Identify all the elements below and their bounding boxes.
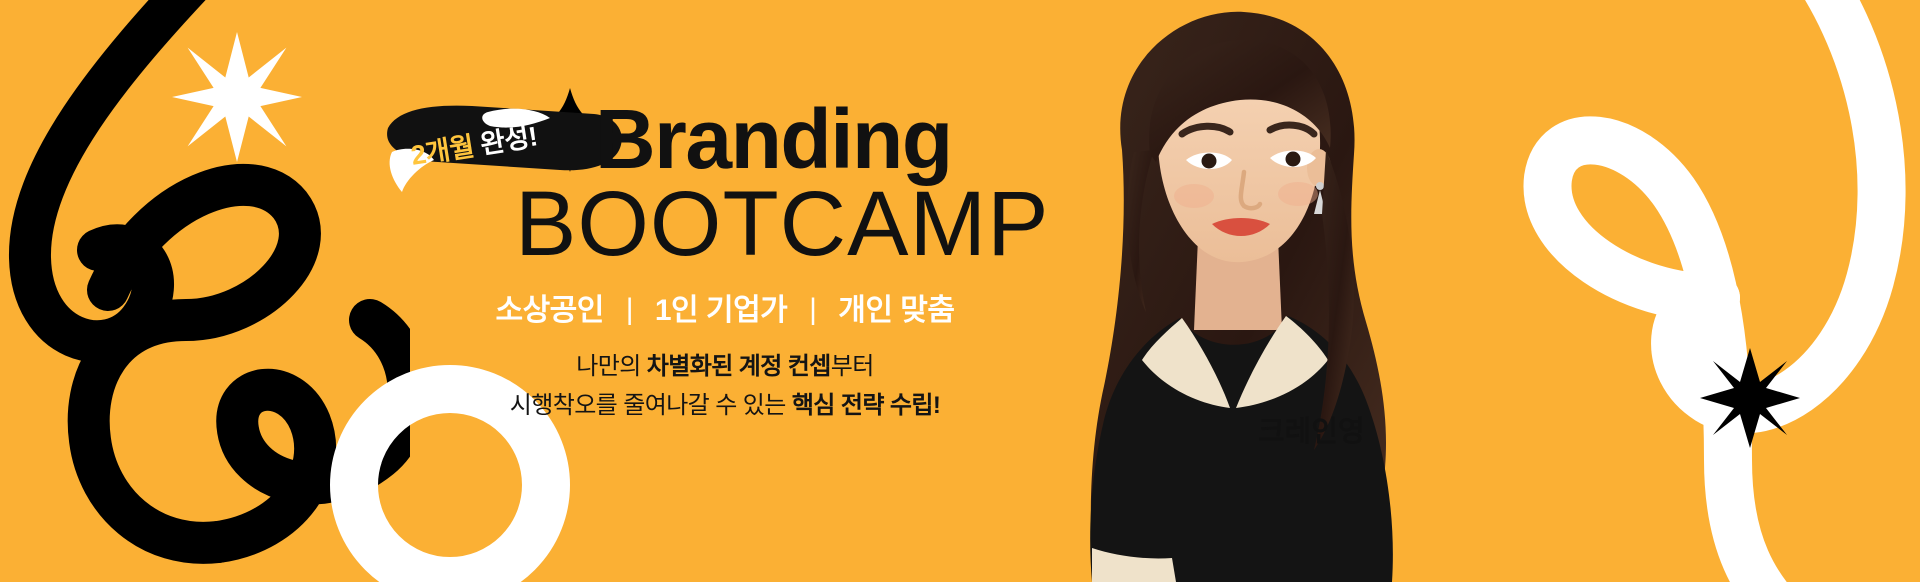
body-line1-plain-a: 나만의 xyxy=(576,353,647,380)
subtitle-item-2: 1인 기업가 xyxy=(655,294,787,327)
branding-bootcamp-banner: 2개월 완성! Branding BOOTCAMP 소상공인 | 1인 기업가 … xyxy=(0,0,1920,582)
body-line1-bold: 차별화된 계정 컨셉 xyxy=(647,353,831,380)
headline-bootcamp: BOOTCAMP xyxy=(515,178,1049,270)
subtitle-divider-1: | xyxy=(626,293,633,327)
body-copy: 나만의 차별화된 계정 컨셉부터 시행착오를 줄여나갈 수 있는 핵심 전략 수… xyxy=(380,348,1070,426)
subtitle-item-3: 개인 맞춤 xyxy=(838,294,954,327)
star-white-icon xyxy=(172,32,302,162)
subtitle-divider-2: | xyxy=(809,293,816,327)
model-photo xyxy=(1030,0,1450,582)
star-black-icon xyxy=(1700,348,1800,448)
swirl-right-icon xyxy=(1470,0,1920,582)
body-line1-plain-b: 부터 xyxy=(831,353,874,380)
headline-branding: Branding xyxy=(595,97,952,181)
subtitle-item-1: 소상공인 xyxy=(495,294,603,327)
subtitle-row: 소상공인 | 1인 기업가 | 개인 맞춤 xyxy=(380,285,1070,329)
body-line2-bold: 핵심 전략 수립! xyxy=(792,392,940,419)
badge-rest: 완성! xyxy=(478,121,539,160)
content-block: 2개월 완성! Branding BOOTCAMP 소상공인 | 1인 기업가 … xyxy=(380,0,1070,582)
body-copy-line-2: 시행착오를 줄여나갈 수 있는 핵심 전략 수립! xyxy=(380,387,1070,426)
body-line2-plain: 시행착오를 줄여나갈 수 있는 xyxy=(510,392,792,419)
brand-logo: 크레인영 xyxy=(1258,408,1365,450)
swirl-left-icon xyxy=(0,0,410,582)
body-copy-line-1: 나만의 차별화된 계정 컨셉부터 xyxy=(380,348,1070,387)
